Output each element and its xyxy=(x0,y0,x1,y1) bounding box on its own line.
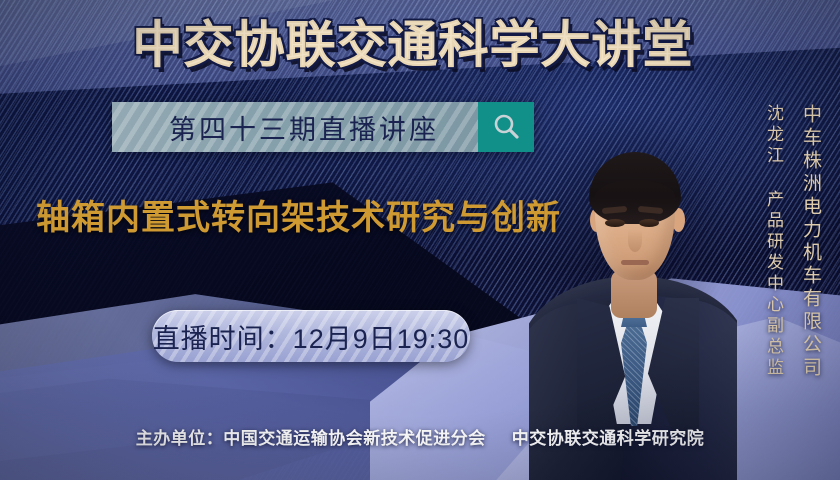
speaker-company: 中车株洲电力机车有限公司 xyxy=(797,104,824,380)
portrait-eye-right xyxy=(639,219,659,227)
organizers-footer: 主办单位：中国交通运输协会新技术促进分会中交协联交通科学研究院 xyxy=(0,424,840,449)
page-title: 中交协联交通科学大讲堂 xyxy=(0,16,840,74)
episode-label: 第四十三期直播讲座 xyxy=(112,108,478,147)
search-button[interactable] xyxy=(478,102,534,152)
portrait-nose xyxy=(628,230,642,252)
organizer-primary: 主办单位：中国交通运输协会新技术促进分会 xyxy=(136,429,486,448)
live-lecture-poster: 中交协联交通科学大讲堂 第四十三期直播讲座 轴箱内置式转向架技术研究与创新 直播… xyxy=(0,0,840,480)
search-icon xyxy=(491,112,521,142)
broadcast-time-badge: 直播时间：12月9日19:30 xyxy=(152,310,470,362)
portrait-mouth xyxy=(621,260,649,265)
episode-banner: 第四十三期直播讲座 xyxy=(112,102,534,152)
speaker-name-title: 沈龙江 产品研发中心副总监 xyxy=(761,104,786,379)
portrait-eye-left xyxy=(605,219,625,227)
broadcast-time-text: 直播时间：12月9日19:30 xyxy=(153,317,470,356)
organizer-secondary: 中交协联交通科学研究院 xyxy=(512,429,705,448)
lecture-topic: 轴箱内置式转向架技术研究与创新 xyxy=(36,196,596,240)
